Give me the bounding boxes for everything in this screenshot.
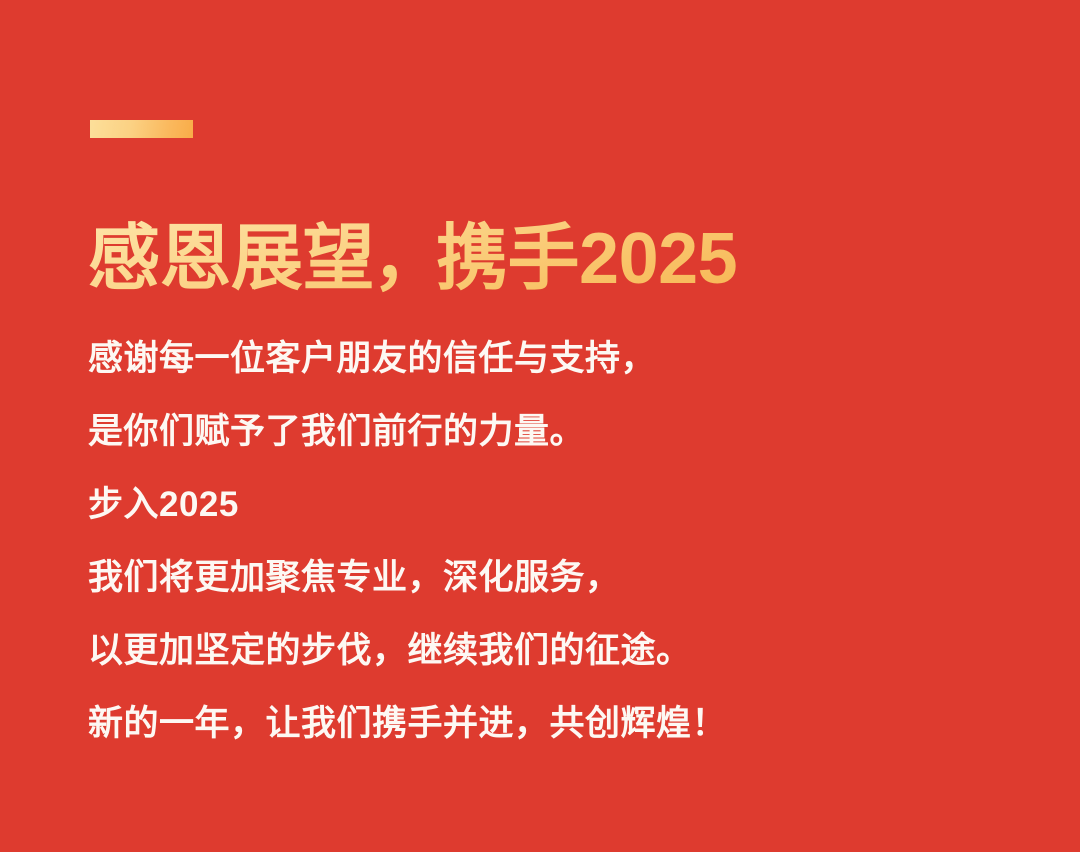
body-copy: 感谢每一位客户朋友的信任与支持， 是你们赋予了我们前行的力量。 步入2025 我… <box>88 322 968 760</box>
copy-line: 新的一年，让我们携手并进，共创辉煌！ <box>88 687 968 760</box>
page-title: 感恩展望，携手2025 <box>88 216 737 302</box>
headline-part-one: 感恩展望 <box>88 219 374 299</box>
headline-comma: ， <box>372 219 434 299</box>
copy-line: 感谢每一位客户朋友的信任与支持， <box>88 322 968 395</box>
accent-bar <box>90 120 193 138</box>
headline-part-two: 携手2025 <box>436 219 737 299</box>
copy-line: 以更加坚定的步伐，继续我们的征途。 <box>88 614 968 687</box>
poster-canvas: 感恩展望，携手2025 感谢每一位客户朋友的信任与支持， 是你们赋予了我们前行的… <box>0 0 1080 852</box>
copy-line: 步入2025 <box>88 468 968 541</box>
copy-line: 是你们赋予了我们前行的力量。 <box>88 395 968 468</box>
copy-line: 我们将更加聚焦专业，深化服务， <box>88 541 968 614</box>
